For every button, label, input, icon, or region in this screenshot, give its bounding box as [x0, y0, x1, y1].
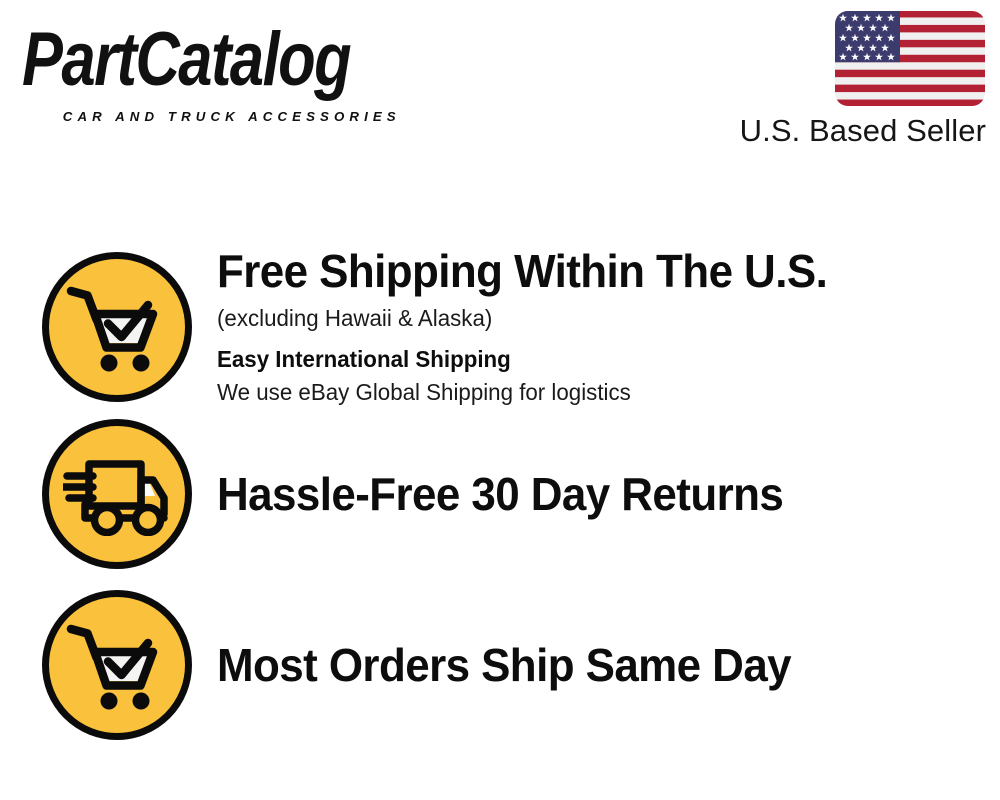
- banner-page: PartCatalog CAR AND TRUCK ACCESSORIES: [0, 0, 1000, 800]
- brand-tagline: CAR AND TRUCK ACCESSORIES: [22, 109, 501, 124]
- delivery-truck-icon: [63, 452, 171, 536]
- header: PartCatalog CAR AND TRUCK ACCESSORIES: [0, 0, 1000, 175]
- feature-sub-detail: We use eBay Global Shipping for logistic…: [217, 378, 977, 407]
- feature-title: Hassle-Free 30 Day Returns: [217, 470, 965, 519]
- us-based-seller-label: U.S. Based Seller: [688, 113, 988, 149]
- feature-row: Most Orders Ship Same Day: [0, 590, 1000, 740]
- feature-title: Most Orders Ship Same Day: [217, 641, 965, 690]
- feature-row: Hassle-Free 30 Day Returns: [0, 419, 1000, 569]
- us-based-seller-block: U.S. Based Seller: [688, 10, 988, 149]
- feature-row: Free Shipping Within The U.S. (excluding…: [0, 247, 1000, 407]
- feature-text-block: Free Shipping Within The U.S. (excluding…: [217, 247, 1000, 407]
- feature-icon-badge: [42, 590, 192, 740]
- brand-logo: PartCatalog CAR AND TRUCK ACCESSORIES: [22, 24, 492, 124]
- us-flag-icon: [834, 10, 986, 107]
- feature-icon-badge: [42, 419, 192, 569]
- feature-icon-badge: [42, 252, 192, 402]
- feature-text-block: Most Orders Ship Same Day: [217, 641, 1000, 690]
- feature-sub-heading: Easy International Shipping: [217, 345, 977, 374]
- shopping-cart-check-icon: [65, 281, 169, 373]
- feature-text-block: Hassle-Free 30 Day Returns: [217, 470, 1000, 519]
- feature-subtitle: (excluding Hawaii & Alaska): [217, 304, 977, 333]
- brand-wordmark: PartCatalog: [22, 24, 487, 98]
- feature-title: Free Shipping Within The U.S.: [217, 247, 965, 296]
- shopping-cart-check-icon: [65, 619, 169, 711]
